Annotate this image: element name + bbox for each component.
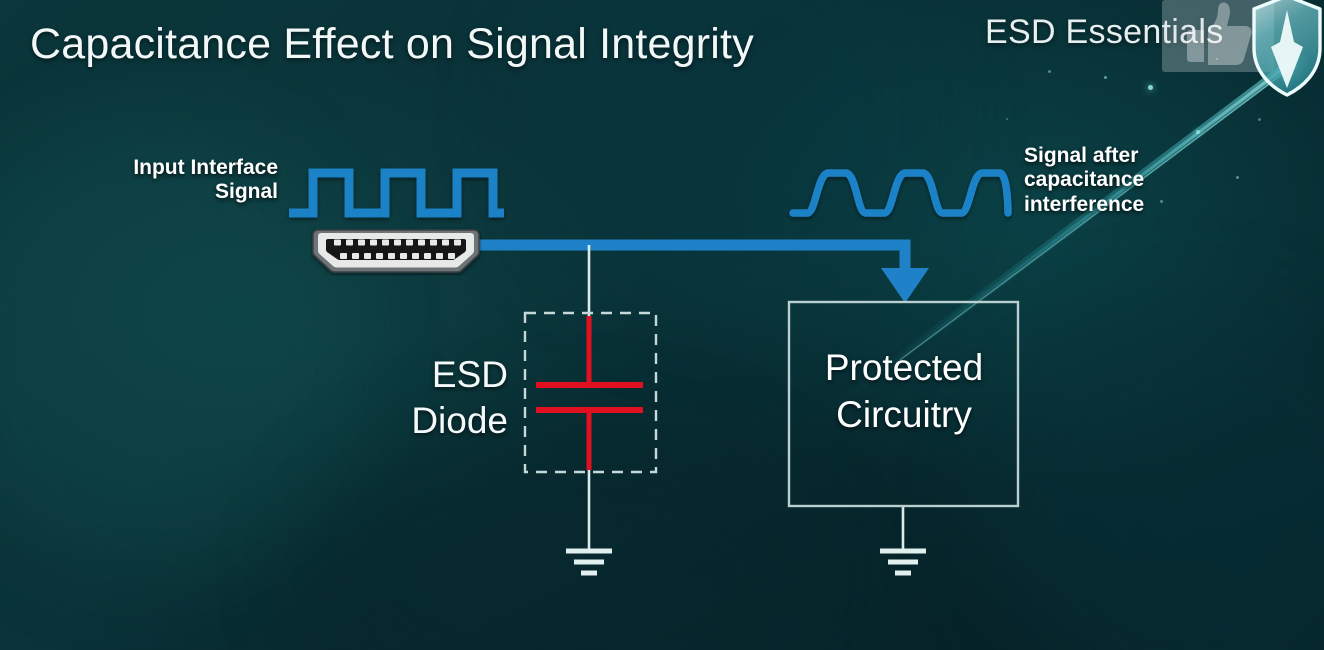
circuit-diagram	[0, 0, 1324, 650]
waveform-input-square	[289, 173, 504, 213]
signal-trace-blue	[476, 245, 929, 303]
arrow-down-icon	[881, 268, 929, 303]
waveform-degraded-square	[793, 173, 1008, 213]
ground-symbol-icon	[880, 551, 926, 573]
hdmi-connector-icon	[310, 226, 482, 276]
protected-circuitry-box	[789, 302, 1018, 506]
slide-canvas: Capacitance Effect on Signal Integrity E…	[0, 0, 1324, 650]
capacitor-icon	[536, 316, 643, 470]
ground-symbol-icon	[566, 551, 612, 573]
